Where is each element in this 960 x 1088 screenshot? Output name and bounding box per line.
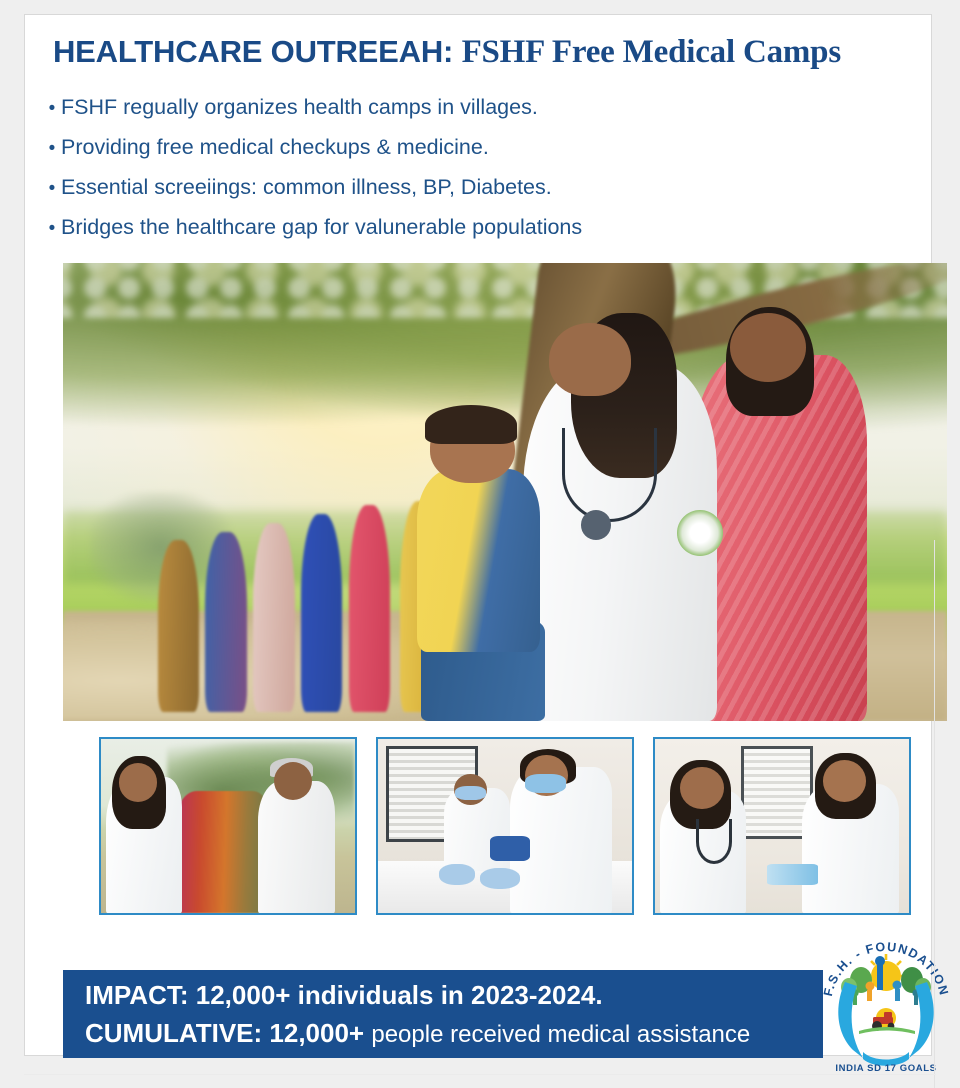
bullet-dot-icon: • [43,98,61,120]
doctor-head [549,323,630,396]
bottom-edge-line [24,1074,936,1075]
hero-photo [63,263,947,721]
thumb2-glove [480,868,521,889]
foundation-logo: F.S.H. - FOUNDATION [815,930,957,1075]
impact-value: 12,000+ individuals in 2023-2024. [196,980,603,1010]
thumb3-medical-supply [767,864,818,885]
thumbnail-1-scene [101,739,355,913]
queue-figure [253,523,294,712]
queue-figure [158,540,199,711]
slide-card: HEALTHCARE OUTREEAH: FSHF Free Medical C… [24,14,932,1056]
child-shirt [417,469,541,652]
queue-figure [301,514,342,712]
thumb2-worker-front-mask-icon [525,774,566,793]
bullet-text: Essential screeiings: common illness, BP… [61,175,552,200]
thumb2-glove [439,864,475,885]
bullet-dot-icon: • [43,138,61,160]
thumb2-bp-cuff-icon [490,836,531,860]
logo-hand-left-icon [838,982,863,1058]
title-part-camps: FSHF Free Medical Camps [462,34,841,70]
queue-figure [349,505,390,712]
impact-line-2: CUMULATIVE: 12,000+ people received medi… [85,1014,823,1054]
page-title: HEALTHCARE OUTREEAH: FSHF Free Medical C… [53,33,913,71]
impact-label: IMPACT: [85,980,189,1010]
thumb1-elderly-man [258,781,334,913]
thumb1-doctor-head [119,763,157,801]
logo-bottom-text: INDIA SD 17 GOALS [835,1063,936,1074]
thumbnail-3-scene [655,739,909,913]
foundation-logo-icon: F.S.H. - FOUNDATION [815,930,957,1075]
bullet-text: FSHF regually organizes health camps in … [61,95,538,120]
list-item: • Providing free medical checkups & medi… [43,135,913,175]
logo-field-icon [859,1027,915,1034]
thumb1-women-queue [177,791,268,913]
thumb3-nurse-left-head [680,767,723,809]
bullet-dot-icon: • [43,178,61,200]
thumbnail-photo-1[interactable] [99,737,357,915]
queue-figure [205,532,246,712]
village-woman-head [730,313,806,382]
bullet-dot-icon: • [43,218,61,240]
cumulative-count: 12,000+ [269,1018,364,1048]
cumulative-description: people received medical assistance [371,1021,750,1048]
title-part-outreach: HEALTHCARE OUTREEAH: [53,34,453,69]
thumbnail-gallery [99,737,911,915]
thumb3-stethoscope-icon [696,819,732,864]
list-item: • Bridges the healthcare gap for valuner… [43,215,913,255]
stethoscope-icon [562,428,656,523]
right-edge-line [934,540,935,1088]
thumbnail-photo-3[interactable] [653,737,911,915]
bullet-text: Bridges the healthcare gap for valunerab… [61,215,582,240]
bullet-list: • FSHF regually organizes health camps i… [43,95,913,255]
thumb2-worker-back-mask-icon [455,786,485,800]
impact-line-1: IMPACT: 12,000+ individuals in 2023-2024… [85,976,823,1014]
page-background: HEALTHCARE OUTREEAH: FSHF Free Medical C… [0,0,960,1088]
thumbnail-photo-2[interactable] [376,737,634,915]
bullet-text: Providing free medical checkups & medici… [61,135,489,160]
stethoscope-bell-icon [581,510,611,539]
thumb3-nurse-right-head [823,760,866,802]
impact-banner: IMPACT: 12,000+ individuals in 2023-2024… [63,970,823,1058]
list-item: • Essential screeiings: common illness, … [43,175,913,215]
thumbnail-2-scene [378,739,632,913]
child-hair [425,405,517,444]
list-item: • FSHF regually organizes health camps i… [43,95,913,135]
thumb1-man-head [274,762,312,800]
cumulative-label: CUMULATIVE: [85,1018,262,1048]
